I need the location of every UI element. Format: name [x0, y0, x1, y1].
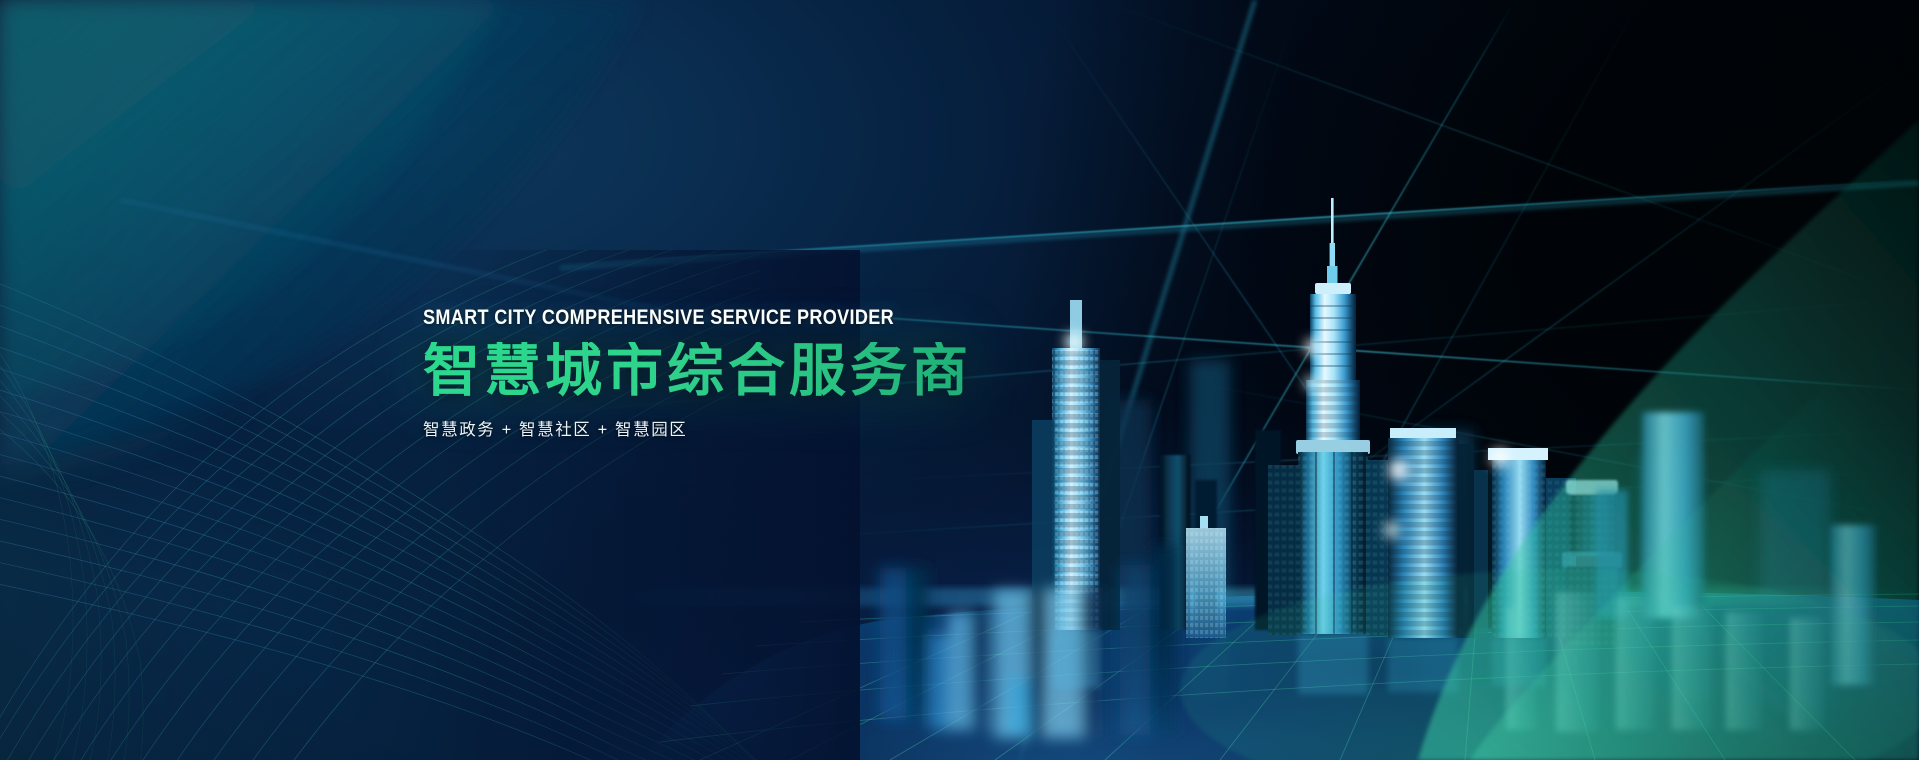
hero-copy-block: SMART CITY COMPREHENSIVE SERVICE PROVIDE… [423, 306, 972, 440]
hero-eyebrow-english: SMART CITY COMPREHENSIVE SERVICE PROVIDE… [423, 306, 895, 330]
hero-subline-chinese: 智慧政务 + 智慧社区 + 智慧园区 [423, 416, 972, 440]
smart-city-hero-banner: SMART CITY COMPREHENSIVE SERVICE PROVIDE… [0, 0, 1919, 760]
hero-headline-chinese: 智慧城市综合服务商 [423, 342, 972, 400]
